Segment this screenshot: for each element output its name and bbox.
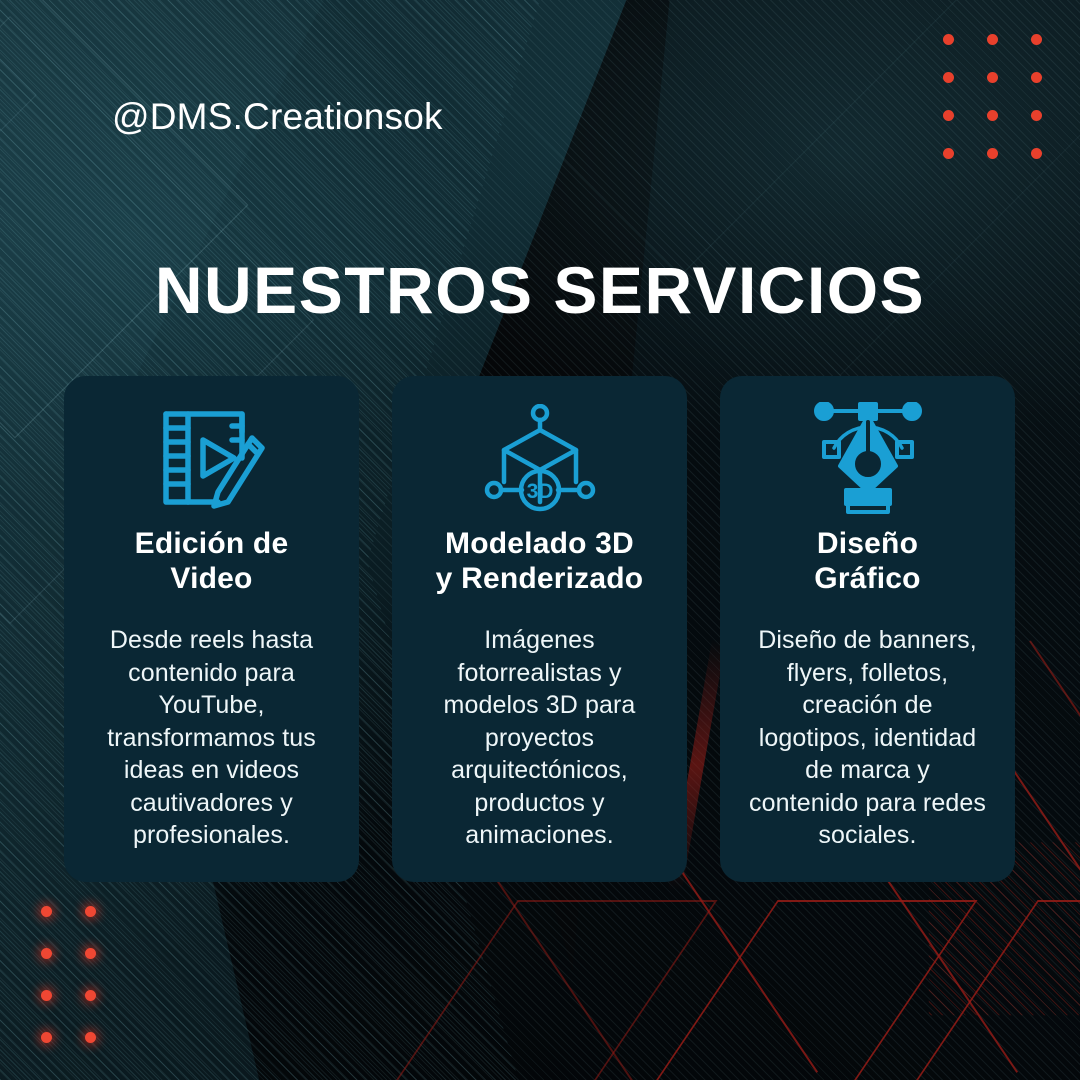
- dot-decor: [85, 990, 96, 1001]
- dot-grid-bottom-left: [24, 890, 112, 1058]
- red-parallelogram-decor: [362, 900, 717, 1080]
- svg-text:3D: 3D: [526, 480, 553, 503]
- service-card-description: Desde reels hasta contenido para YouTube…: [107, 624, 316, 852]
- service-card-description: Diseño de banners, flyers, folletos, cre…: [749, 624, 986, 852]
- service-card-title: Edición de Video: [135, 526, 289, 596]
- service-card-title: Diseño Gráfico: [814, 526, 920, 596]
- dot-decor: [987, 110, 998, 121]
- brand-handle: @DMS.Creationsok: [112, 96, 443, 138]
- dot-decor: [41, 906, 52, 917]
- dot-decor: [1031, 148, 1042, 159]
- page-title: NUESTROS SERVICIOS: [0, 252, 1080, 328]
- dot-decor: [943, 72, 954, 83]
- red-diagonal-line: [1029, 640, 1080, 906]
- services-card-row: Edición de Video Desde reels hasta conte…: [64, 376, 1016, 882]
- cube-3d-icon: 3D: [484, 402, 596, 514]
- dot-decor: [85, 1032, 96, 1043]
- dot-grid-top-right: [926, 20, 1058, 172]
- service-card-graphic-design[interactable]: Diseño Gráfico Diseño de banners, flyers…: [720, 376, 1015, 882]
- dot-decor: [85, 948, 96, 959]
- dot-decor: [85, 906, 96, 917]
- dot-decor: [987, 72, 998, 83]
- service-card-video-edit[interactable]: Edición de Video Desde reels hasta conte…: [64, 376, 359, 882]
- service-poster: @DMS.Creationsok NUESTROS SERVICIOS Edi: [0, 0, 1080, 1080]
- service-card-description: Imágenes fotorrealistas y modelos 3D par…: [444, 624, 636, 852]
- service-card-title: Modelado 3D y Renderizado: [436, 526, 644, 596]
- dot-decor: [987, 34, 998, 45]
- video-edit-icon: [156, 402, 268, 514]
- dot-decor: [41, 990, 52, 1001]
- dot-decor: [943, 34, 954, 45]
- dot-decor: [943, 148, 954, 159]
- dot-decor: [1031, 34, 1042, 45]
- dot-decor: [987, 148, 998, 159]
- pen-nib-icon: [810, 402, 926, 514]
- dot-decor: [41, 948, 52, 959]
- dot-decor: [1031, 110, 1042, 121]
- dot-decor: [1031, 72, 1042, 83]
- service-card-3d-modeling[interactable]: 3D Modelado 3D y Renderizado Imágenes fo…: [392, 376, 687, 882]
- dot-decor: [943, 110, 954, 121]
- dot-decor: [41, 1032, 52, 1043]
